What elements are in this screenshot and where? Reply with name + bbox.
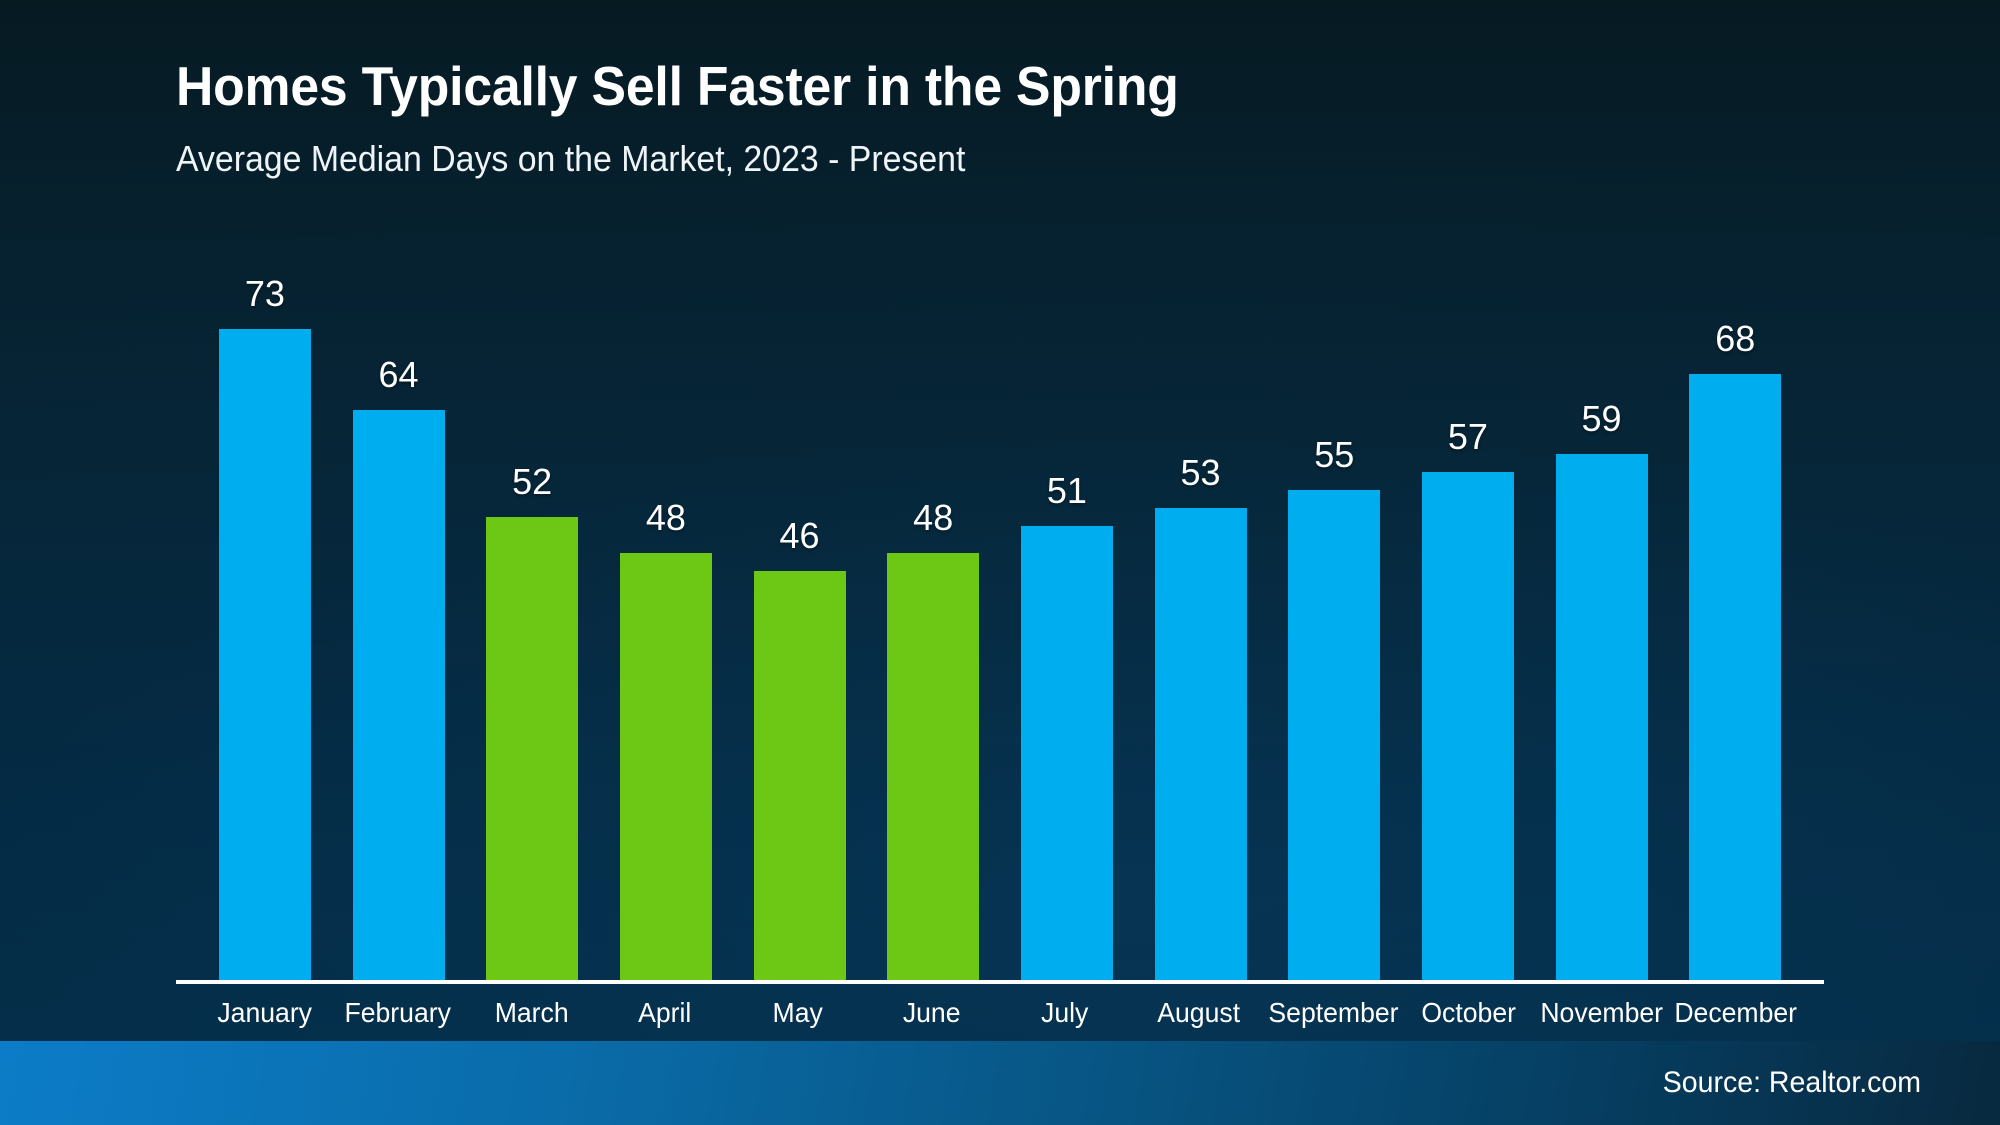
bar-value-label: 64 <box>378 357 418 393</box>
page-title: Homes Typically Sell Faster in the Sprin… <box>176 56 1680 117</box>
bar-group-november[interactable]: 59 <box>1535 276 1669 982</box>
bar-value-label: 73 <box>245 276 285 312</box>
x-axis-label-june: June <box>868 996 995 1030</box>
bar-july[interactable] <box>1021 526 1113 982</box>
bar-april[interactable] <box>620 553 712 982</box>
bar-august[interactable] <box>1155 508 1247 982</box>
bar-group-march[interactable]: 52 <box>465 276 599 982</box>
x-axis-label-august: August <box>1135 996 1262 1030</box>
bar-chart-plot-area: 736452484648515355575968 <box>176 276 1824 982</box>
bar-group-july[interactable]: 51 <box>1000 276 1134 982</box>
bar-january[interactable] <box>219 329 311 982</box>
bar-value-label: 46 <box>780 518 820 554</box>
x-axis-label-september: September <box>1268 996 1398 1030</box>
bar-december[interactable] <box>1689 374 1781 982</box>
x-axis-label-january: January <box>201 996 328 1030</box>
bar-october[interactable] <box>1422 472 1514 982</box>
bar-value-label: 57 <box>1448 419 1488 455</box>
x-axis-label-march: March <box>468 996 595 1030</box>
footer-bar: Source: Realtor.com <box>0 1041 2000 1125</box>
bar-november[interactable] <box>1556 454 1648 982</box>
bar-value-label: 68 <box>1715 321 1755 357</box>
bar-group-december[interactable]: 68 <box>1668 276 1802 982</box>
x-axis-label-april: April <box>601 996 728 1030</box>
bar-may[interactable] <box>754 571 846 982</box>
bar-september[interactable] <box>1288 490 1380 982</box>
bar-group-october[interactable]: 57 <box>1401 276 1535 982</box>
bar-value-label: 53 <box>1181 455 1221 491</box>
bar-group-april[interactable]: 48 <box>599 276 733 982</box>
bar-group-may[interactable]: 46 <box>733 276 867 982</box>
bar-june[interactable] <box>887 553 979 982</box>
x-axis-line <box>176 980 1824 984</box>
bar-group-september[interactable]: 55 <box>1267 276 1401 982</box>
bar-value-label: 52 <box>512 464 552 500</box>
bar-value-label: 51 <box>1047 473 1087 509</box>
x-axis-label-may: May <box>735 996 862 1030</box>
bar-february[interactable] <box>353 410 445 982</box>
x-axis-label-july: July <box>1001 996 1128 1030</box>
bar-group-january[interactable]: 73 <box>198 276 332 982</box>
x-axis-label-november: November <box>1539 996 1666 1030</box>
bar-series: 736452484648515355575968 <box>176 276 1824 982</box>
bar-group-august[interactable]: 53 <box>1134 276 1268 982</box>
bar-value-label: 59 <box>1582 401 1622 437</box>
bar-value-label: 55 <box>1314 437 1354 473</box>
chart-slide: Homes Typically Sell Faster in the Sprin… <box>0 0 2000 1125</box>
chart-subtitle: Average Median Days on the Market, 2023 … <box>176 139 1680 179</box>
bar-value-label: 48 <box>913 500 953 536</box>
bar-march[interactable] <box>486 517 578 982</box>
x-axis-tick-labels: JanuaryFebruaryMarchAprilMayJuneJulyAugu… <box>176 996 1824 1030</box>
x-axis-label-october: October <box>1405 996 1532 1030</box>
x-axis-label-december: December <box>1672 996 1799 1030</box>
chart-header: Homes Typically Sell Faster in the Sprin… <box>176 56 1776 178</box>
bar-group-june[interactable]: 48 <box>866 276 1000 982</box>
bar-value-label: 48 <box>646 500 686 536</box>
source-attribution: Source: Realtor.com <box>1663 1066 1921 1100</box>
bar-group-february[interactable]: 64 <box>332 276 466 982</box>
x-axis-label-february: February <box>335 996 462 1030</box>
